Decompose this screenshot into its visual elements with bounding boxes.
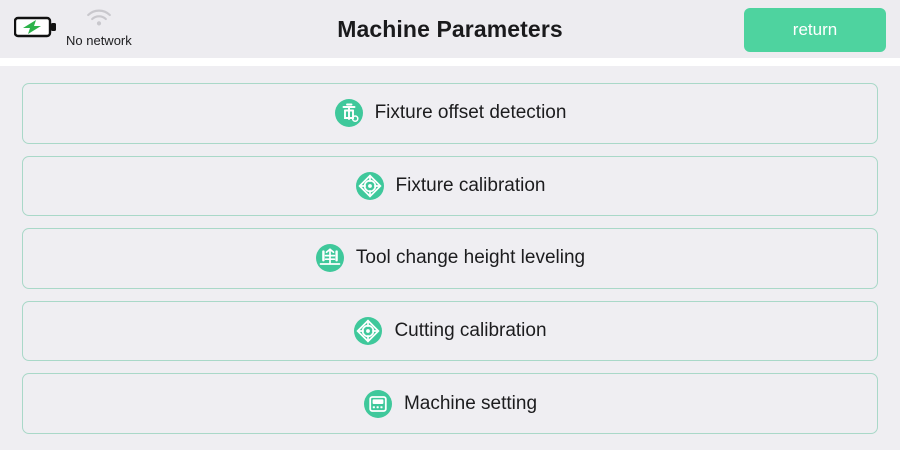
network-label: No network [66,33,132,48]
menu-item-cutting-calibration[interactable]: Cutting calibration [22,301,878,362]
status-cluster: No network [14,8,132,48]
menu-item-fixture-calibration[interactable]: Fixture calibration [22,156,878,217]
menu-item-label: Cutting calibration [394,320,546,342]
battery-charging-icon [14,16,58,43]
menu-item-label: Machine setting [404,393,537,415]
machine-panel-icon [363,389,393,419]
tool-height-icon [315,243,345,273]
menu-item-label: Fixture offset detection [375,102,567,124]
header-divider [0,58,900,66]
menu-item-tool-change-height-leveling[interactable]: Tool change height leveling [22,228,878,289]
menu-item-label: Fixture calibration [396,175,546,197]
crosshair-target-icon [355,171,385,201]
menu-item-fixture-offset-detection[interactable]: Fixture offset detection [22,83,878,144]
menu-list: Fixture offset detection Fi [0,66,900,450]
return-button[interactable]: return [744,8,886,52]
menu-item-machine-setting[interactable]: Machine setting [22,373,878,434]
wifi-off-icon [85,8,113,32]
machine-parameters-screen: No network Machine Parameters return [0,0,900,450]
network-status: No network [66,8,132,48]
fixture-offset-icon [334,98,364,128]
header-bar: No network Machine Parameters return [0,0,900,58]
crosshair-target-icon [353,316,383,346]
menu-item-label: Tool change height leveling [356,247,585,269]
